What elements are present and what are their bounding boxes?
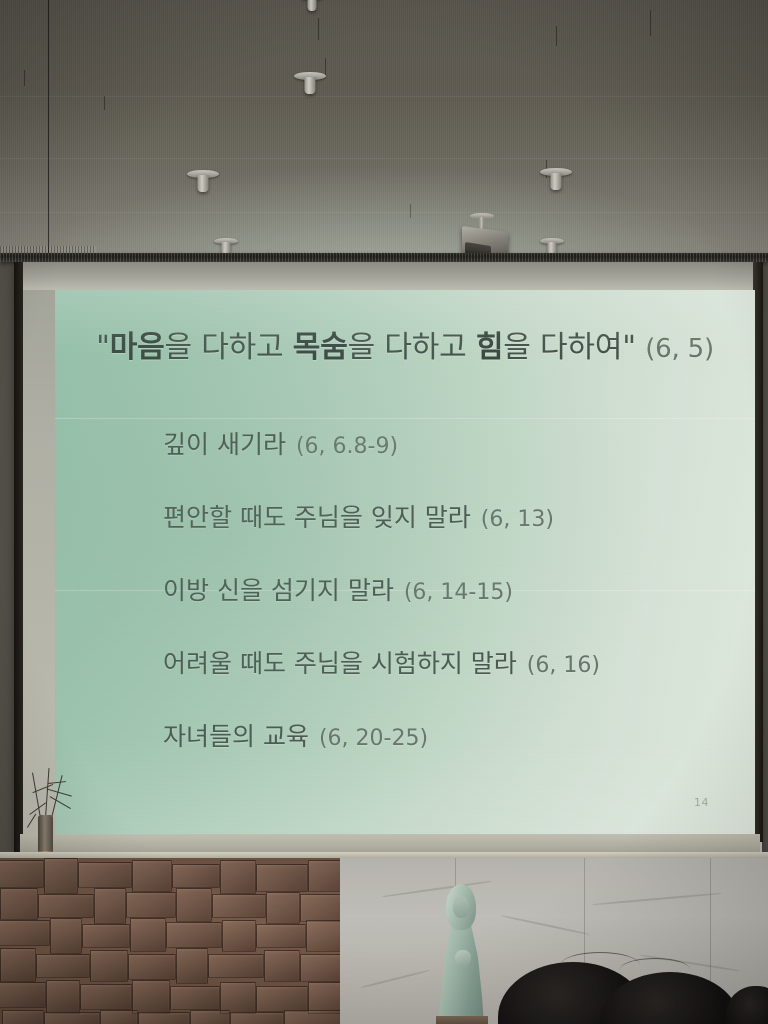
stone-block: [222, 920, 256, 952]
stone-block: [166, 922, 222, 948]
stone-block: [212, 894, 266, 918]
stone-block: [132, 980, 170, 1014]
bullet-text: 어려울 때도 주님을 시험하지 말라: [163, 649, 517, 678]
stone-wall: [0, 858, 340, 1024]
stone-block: [170, 986, 220, 1010]
slide-title: "마음을 다하고 목숨을 다하고 힘을 다하여" (6, 5): [59, 330, 751, 366]
statue-robe: [436, 920, 486, 1024]
stone-block: [264, 950, 300, 982]
screen-mounting-rail: [0, 253, 768, 262]
title-plain-1: 을 다하고: [165, 330, 293, 365]
ceiling-mark: [24, 70, 25, 86]
stone-block: [300, 894, 340, 922]
marble-vein: [501, 915, 589, 936]
slide-bullet-list: 깊이 새기라(6, 6.8-9) 편안할 때도 주님을 잊지 말라(6, 13)…: [163, 432, 743, 797]
marble-vein: [592, 892, 722, 905]
bullet-line: 편안할 때도 주님을 잊지 말라(6, 13): [163, 505, 743, 531]
ceiling-mark: [318, 18, 319, 40]
stone-block: [300, 954, 340, 982]
stone-block: [44, 858, 78, 894]
ceiling-mark: [104, 96, 105, 110]
bullet-text: 편안할 때도 주님을 잊지 말라: [163, 503, 471, 532]
stone-block: [176, 948, 208, 984]
rail-texture: [0, 253, 768, 262]
stone-block: [46, 980, 80, 1014]
stone-block: [256, 864, 308, 892]
sprinkler-head-icon: [536, 168, 576, 194]
statue-hands: [455, 950, 471, 966]
title-reference: (6, 5): [645, 334, 714, 364]
ceiling-seam: [0, 212, 768, 213]
virgin-mary-statue: [430, 884, 492, 1024]
stone-block: [266, 892, 300, 924]
bullet-line: 깊이 새기라(6, 6.8-9): [163, 432, 743, 458]
bullet-reference: (6, 13): [471, 507, 554, 532]
statue-face: [453, 896, 469, 918]
stone-block: [0, 920, 50, 946]
stone-block: [256, 986, 308, 1012]
sprinkler-stem: [551, 173, 562, 190]
sprinkler-stem: [305, 77, 316, 94]
stone-block: [138, 1012, 190, 1024]
stone-block: [38, 894, 94, 918]
bullet-line: 어려울 때도 주님을 시험하지 말라(6, 16): [163, 651, 743, 677]
stone-block: [78, 862, 132, 888]
stone-block: [94, 888, 126, 924]
slide-page-number: 14: [694, 796, 709, 809]
projected-slide: "마음을 다하고 목숨을 다하고 힘을 다하여" (6, 5) 깊이 새기라(6…: [55, 290, 755, 835]
bullet-reference: (6, 14-15): [394, 580, 513, 605]
title-bold-3: 힘: [476, 330, 503, 365]
stone-block: [256, 924, 306, 948]
hanging-cable: [48, 0, 49, 262]
statue-base: [436, 1016, 488, 1024]
screen-top-band: [23, 262, 753, 290]
ceiling-seam: [0, 96, 768, 97]
bullet-line: 이방 신을 섬기지 말라(6, 14-15): [163, 578, 743, 604]
stone-block: [176, 888, 212, 922]
twig: [48, 781, 66, 784]
ceiling-seam: [0, 158, 768, 159]
ceiling-texture: [0, 0, 768, 262]
stone-block: [220, 860, 256, 894]
stone-block: [306, 920, 340, 952]
title-plain-2: 을 다하고: [348, 330, 476, 365]
title-plain-3: 을 다하여: [503, 330, 622, 365]
stone-block: [90, 950, 128, 982]
stone-block: [190, 1010, 230, 1024]
stone-block: [128, 954, 176, 980]
screen-seam: [55, 418, 755, 419]
twig: [27, 814, 36, 828]
stone-block: [0, 948, 36, 982]
stone-block: [132, 860, 172, 892]
stone-block: [284, 1010, 340, 1024]
photo-scene: "마음을 다하고 목숨을 다하고 힘을 다하여" (6, 5) 깊이 새기라(6…: [0, 0, 768, 1024]
stone-block: [44, 1012, 100, 1024]
title-open-quote: ": [96, 330, 110, 365]
title-bold-2: 목숨: [293, 330, 348, 365]
stone-block: [0, 888, 38, 920]
stone-block: [80, 984, 132, 1010]
stone-block: [0, 982, 46, 1008]
sprinkler-head-icon: [183, 170, 223, 196]
bullet-text: 깊이 새기라: [163, 430, 286, 459]
bullet-line: 자녀들의 교육(6, 20-25): [163, 724, 743, 750]
title-close-quote: ": [622, 330, 636, 365]
stone-block: [2, 1010, 44, 1024]
bullet-reference: (6, 20-25): [309, 726, 428, 751]
bullet-text: 이방 신을 섬기지 말라: [163, 576, 394, 605]
stone-block: [0, 860, 44, 888]
stone-block: [308, 860, 340, 892]
bullet-reference: (6, 16): [517, 653, 600, 678]
hair-wisp: [620, 958, 690, 981]
stone-block: [100, 1010, 138, 1024]
marble-vein: [361, 970, 429, 989]
stone-block: [130, 918, 166, 952]
stone-block: [172, 864, 220, 888]
ceiling: [0, 0, 768, 262]
ceiling-mark: [410, 204, 411, 218]
stone-block: [126, 892, 176, 918]
ceiling-mark: [650, 10, 651, 36]
ceiling-mark: [556, 26, 557, 46]
bullet-text: 자녀들의 교육: [163, 722, 309, 751]
stone-block: [36, 954, 90, 978]
title-bold-1: 마음: [110, 330, 165, 365]
sprinkler-stem: [308, 0, 317, 11]
twig: [45, 768, 49, 818]
stone-block: [82, 924, 130, 948]
screen-frame-left: [14, 262, 23, 852]
stone-block: [208, 954, 264, 978]
stone-block: [50, 918, 82, 954]
sprinkler-head-icon: [290, 72, 330, 98]
sprinkler-stem: [198, 175, 209, 192]
bullet-reference: (6, 6.8-9): [286, 434, 398, 459]
stone-block: [230, 1012, 284, 1024]
sprinkler-head-icon: [296, 0, 328, 14]
